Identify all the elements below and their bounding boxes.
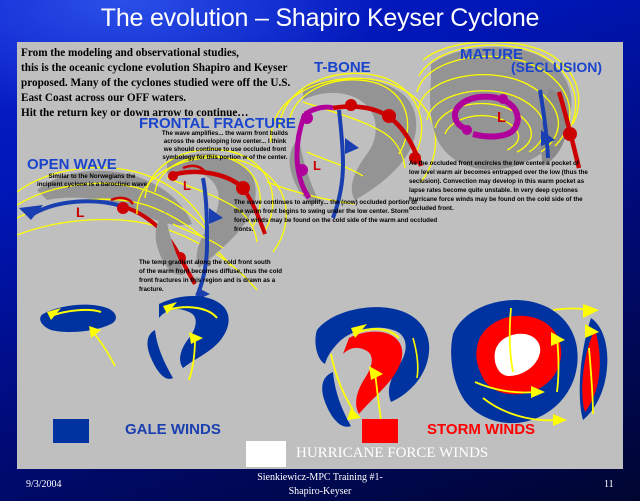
footer-center-line2: Shapiro-Keyser (0, 486, 640, 497)
legend-swatch-hurricane (246, 441, 286, 467)
note-t-bone-3: force winds may be found on the cold sid… (234, 217, 437, 225)
note-mature-2: low level warm air becomes entrapped ove… (409, 169, 588, 177)
note-cold-front-4: fracture. (139, 286, 164, 294)
frontal-fracture-low-label: L (183, 178, 191, 193)
intro-line-1: From the modeling and observational stud… (21, 46, 239, 61)
slide-footer: 9/3/2004 Sienkiewicz-MPC Training #1- Sh… (0, 470, 640, 501)
content-panel: L L (17, 42, 623, 469)
note-frontal-fracture-4: symbology for this portion w of the cent… (135, 154, 315, 162)
intro-line-3: proposed. Many of the cyclones studied w… (21, 76, 290, 91)
note-cold-front-3: front fractures in this region and is dr… (139, 277, 275, 285)
footer-center-line1: Sienkiewicz-MPC Training #1- (0, 472, 640, 483)
note-t-bone-4: fronts. (234, 226, 253, 234)
windfield-frontal-fracture (148, 296, 229, 380)
mature-low-label: L (497, 109, 506, 126)
note-mature-4: lapse rates become quite unstable. In ve… (409, 187, 578, 195)
windfield-t-bone (315, 307, 429, 427)
legend-label-hurricane: HURRICANE FORCE WINDS (296, 445, 488, 462)
heading-open-wave: OPEN WAVE (27, 156, 117, 173)
footer-page-number: 11 (604, 479, 614, 490)
intro-line-4: East Coast across our OFF waters. (21, 91, 186, 106)
note-open-wave-2: incipient cyclone is a baroclinic wave (17, 181, 167, 189)
open-wave-low-label: L (76, 204, 85, 220)
slide-canvas: The evolution – Shapiro Keyser Cyclone (0, 0, 640, 501)
note-cold-front-2: of the warm front becomes diffuse, thus … (139, 268, 282, 276)
slide-title: The evolution – Shapiro Keyser Cyclone (0, 4, 640, 33)
legend-label-gale: GALE WINDS (125, 421, 221, 438)
note-t-bone-1: The wave continues to amplify... the (no… (234, 199, 417, 207)
windfield-open-wave (40, 305, 116, 366)
legend-swatch-gale (53, 419, 89, 443)
note-mature-5: hurricane force winds may be found on th… (409, 196, 583, 204)
note-cold-front-1: The temp gradient along the cold front s… (139, 259, 271, 267)
legend-swatch-storm (362, 419, 398, 443)
intro-line-2: this is the oceanic cyclone evolution Sh… (21, 61, 287, 76)
note-t-bone-2: the warm front begins to swing under the… (234, 208, 409, 216)
legend-label-storm: STORM WINDS (427, 421, 535, 438)
note-mature-1: As the occluded front encircles the low … (409, 160, 579, 168)
windfield-mature (451, 300, 607, 426)
heading-mature-seclusion: (SECLUSION) (511, 59, 602, 75)
heading-t-bone: T-BONE (314, 59, 371, 76)
note-mature-3: seclusion). Convection may develop in th… (409, 178, 584, 186)
